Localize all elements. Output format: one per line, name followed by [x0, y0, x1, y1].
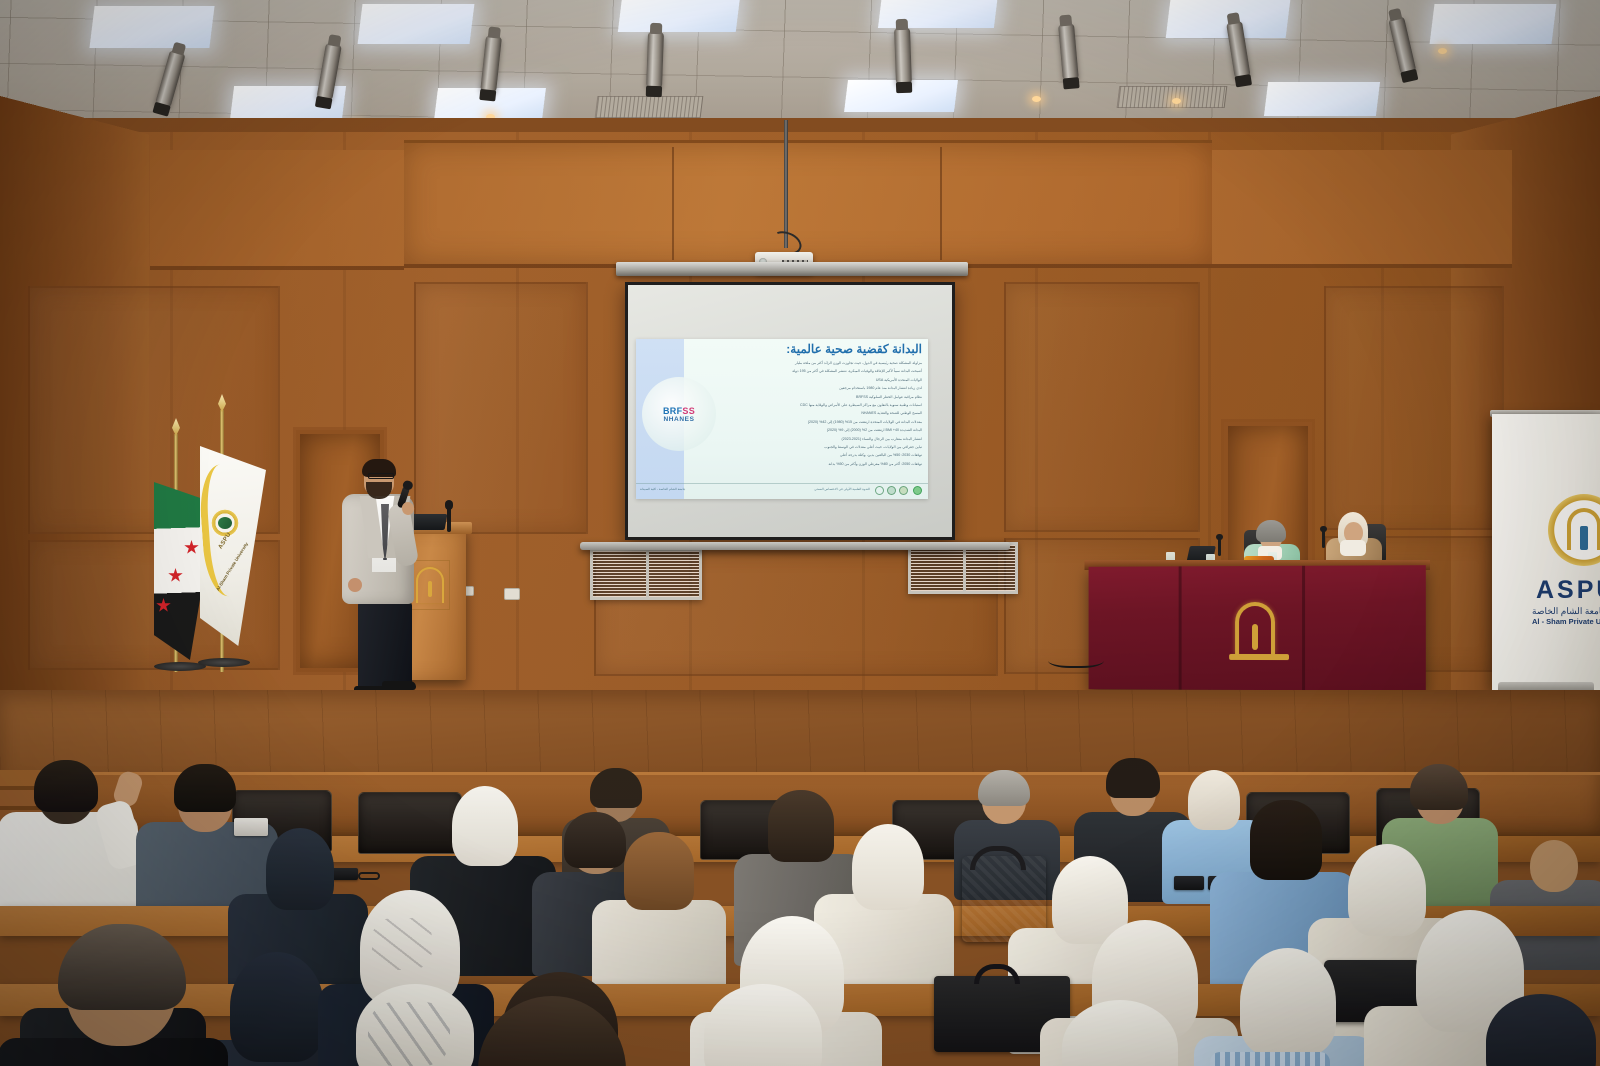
recessed-downlight [1438, 48, 1447, 54]
slide-bullet: تباين جغرافي بين الولايات، حيث أعلى معدل… [670, 443, 922, 451]
slide-bullet: مزاولة المشكلة صحية رئيسية في الدول، حيث… [670, 359, 922, 367]
audience-hair [624, 832, 694, 910]
panel-microphone [1218, 538, 1221, 556]
ceiling-panel-light [1430, 4, 1557, 44]
phone-on-desk [330, 868, 358, 880]
projection-screen: البدانة كقضية صحية عالمية: مزاولة المشكل… [625, 282, 955, 540]
audience-hair [58, 924, 186, 1010]
ceiling-vent [595, 96, 704, 118]
flag-stand-base [198, 658, 250, 667]
vent-divider [646, 551, 649, 597]
brfss-nhanes-logo: BRFSS NHANES [642, 377, 716, 451]
audience-hijab [266, 828, 334, 910]
slide-bullet: توقعات 2050: أكثر من 80% مفرطي الوزن وأك… [670, 460, 922, 468]
audience-hair [174, 764, 236, 812]
gold-arch-icon [1235, 602, 1275, 654]
audience-hair [978, 770, 1030, 806]
ceiling-panel-light [358, 4, 475, 44]
audience-head [1530, 840, 1578, 892]
wall-cabinet-center [404, 140, 1212, 268]
wall-air-vent-left [590, 548, 702, 600]
eyeglasses-icon [368, 473, 394, 479]
striped-collar [1210, 1052, 1330, 1066]
recessed-downlight [1032, 96, 1041, 102]
stage-spotlight [646, 32, 664, 89]
flag-star [156, 598, 171, 613]
audience-phone-in-hand [234, 818, 268, 836]
wall-cabinet-left [150, 150, 404, 270]
slide-footer: جامعة الشام الخاصة - كلية الصيدلة الندوة… [636, 483, 928, 497]
flag-star [168, 568, 183, 583]
aspu-rollup-banner: ASPU جامعة الشام الخاصة Al - Sham Privat… [1492, 414, 1600, 690]
vent-divider [963, 545, 966, 591]
audience-hair [1250, 800, 1322, 880]
ceiling-panel-light [618, 0, 740, 32]
table-emblem [1232, 602, 1278, 660]
speaker-hand [348, 578, 362, 592]
speaker-presenter [342, 462, 422, 698]
audience-hijab [1348, 844, 1426, 936]
ceiling-panel-light [1264, 82, 1380, 116]
panel-table [1089, 565, 1426, 691]
phone-on-desk [1174, 876, 1204, 890]
panelist-hair [1256, 520, 1286, 542]
audience-hair [1410, 764, 1468, 810]
speaker-legs [358, 600, 412, 688]
projection-screen-housing [616, 262, 968, 276]
recessed-downlight [1172, 98, 1181, 104]
hijab-print [368, 1002, 450, 1066]
wall-panel [1324, 286, 1504, 530]
flag-star [184, 540, 199, 555]
projection-screen-bottom-bar [580, 542, 1010, 550]
audience-hair [34, 760, 98, 812]
audience-chair [358, 792, 462, 854]
projector-pole-mount [784, 120, 788, 248]
panel-microphone [1322, 530, 1325, 548]
banner-arabic-name: جامعة الشام الخاصة [1532, 606, 1600, 617]
banner-acronym: ASPU [1536, 576, 1600, 605]
slide-footer-icon [875, 486, 884, 495]
audience-hijab [230, 952, 324, 1062]
hijab-pattern [372, 918, 432, 970]
tablecloth-fold [1179, 566, 1182, 689]
audience-hair [768, 790, 834, 862]
speaker-shoe [382, 681, 416, 690]
ceiling-panel-light [89, 6, 214, 48]
wall-outlet [504, 588, 520, 600]
banner-english-name: Al - Sham Private University [1532, 617, 1600, 626]
wall-cabinet-right [1212, 150, 1512, 268]
slide-bullet: أصبحت البدانة سبباً لأكبر للإعاقة والوفي… [670, 367, 922, 375]
podium-microphone [447, 506, 451, 532]
panel-table-cable [1048, 650, 1104, 668]
wall-panel [414, 282, 588, 534]
audience-hair [590, 768, 642, 808]
tablecloth-fold [1302, 566, 1305, 690]
slide-footer-icon [887, 486, 896, 495]
slide-bullet: توقعات 2030: 50% من البالغين بدين، وكثلة… [670, 451, 922, 459]
eyeglasses-on-desk [358, 872, 380, 880]
audience-hijab [1188, 770, 1240, 830]
slide-logo-primary: BRFSS [663, 406, 695, 416]
stage-spotlight [894, 28, 912, 85]
audience-hijab [1240, 948, 1336, 1056]
wall-panel [1004, 282, 1200, 532]
audience-hijab [852, 824, 924, 910]
auditorium-photo: البدانة كقضية صحية عالمية: مزاولة المشكل… [0, 0, 1600, 1066]
university-seal-icon [1548, 494, 1600, 566]
slide-title: البدانة كقضية صحية عالمية: [786, 342, 922, 356]
slide-footer-right-text: الندوة العلمية الأولى في الاختصاص الصحي [814, 487, 870, 491]
presentation-slide: البدانة كقضية صحية عالمية: مزاولة المشكل… [636, 339, 928, 499]
stage-floor [0, 690, 1600, 778]
panelist-scarf [1340, 540, 1366, 556]
audience-hair [564, 812, 626, 868]
slide-footer-icon [913, 486, 922, 495]
ceiling-vent [1117, 86, 1228, 108]
audience-hijab [452, 786, 518, 866]
gold-arch-icon [1567, 508, 1600, 550]
slide-bullet: الولايات المتحدة الأمريكية USA [670, 376, 922, 384]
slide-footer-left-text: جامعة الشام الخاصة - كلية الصيدلة [640, 487, 686, 491]
slide-logo-secondary: NHANES [663, 416, 694, 423]
audience-hair [1106, 758, 1160, 798]
slide-footer-icon [899, 486, 908, 495]
